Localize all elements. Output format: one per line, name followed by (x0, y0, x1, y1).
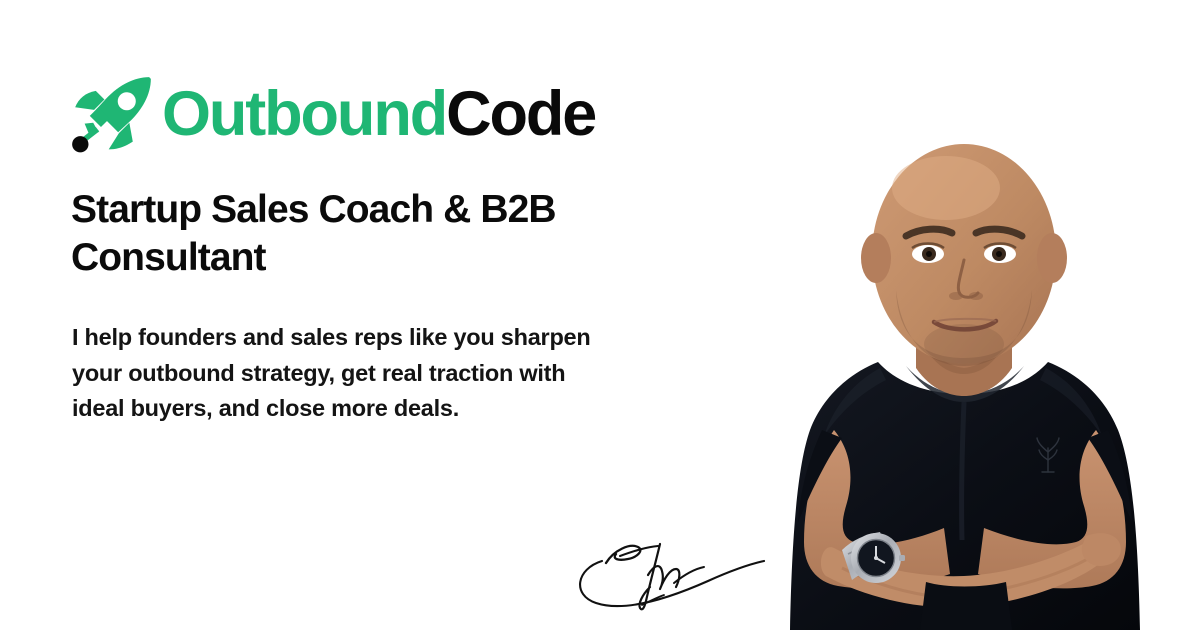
logo-word-outbound: Outbound (162, 83, 446, 146)
headshot-photo (730, 130, 1200, 630)
page-title: Startup Sales Coach & B2B Consultant (71, 186, 671, 283)
value-proposition-text: I help founders and sales reps like you … (72, 320, 612, 427)
logo-wordmark: OutboundCode (162, 83, 595, 146)
logo-word-code: Code (446, 83, 595, 146)
brand-logo[interactable]: OutboundCode (70, 66, 595, 162)
promo-card: OutboundCode Startup Sales Coach & B2B C… (0, 0, 1200, 630)
rocket-icon (70, 72, 156, 158)
